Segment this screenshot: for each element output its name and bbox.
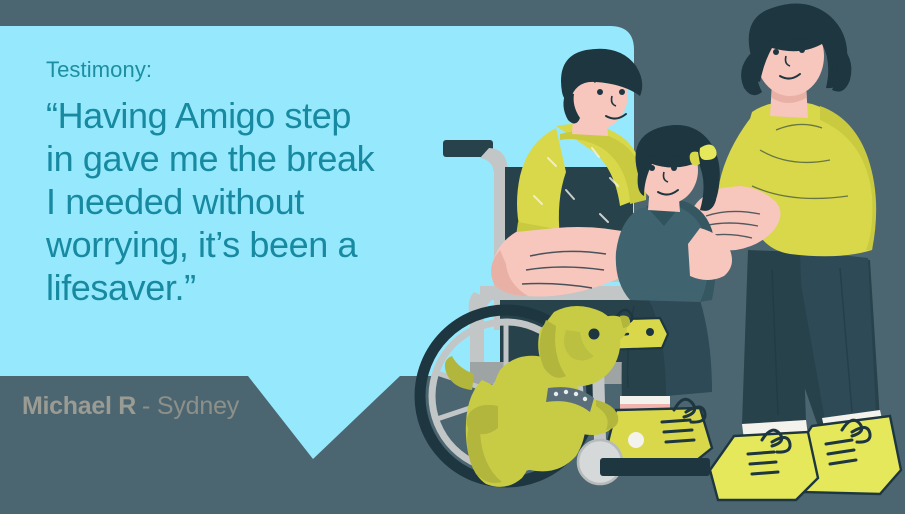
attribution-city: Sydney xyxy=(157,392,239,420)
testimonial-quote: “Having Amigo step in gave me the break … xyxy=(46,94,466,309)
attribution: Michael R - Sydney xyxy=(22,391,239,421)
attribution-separator: - xyxy=(142,392,150,420)
attribution-name: Michael R xyxy=(22,391,136,421)
testimony-label: Testimony: xyxy=(46,56,466,84)
bubble-text-container: Testimony: “Having Amigo step in gave me… xyxy=(46,56,466,309)
attribution-location: - Sydney xyxy=(142,391,239,421)
testimonial-card: Testimony: “Having Amigo step in gave me… xyxy=(0,0,905,514)
